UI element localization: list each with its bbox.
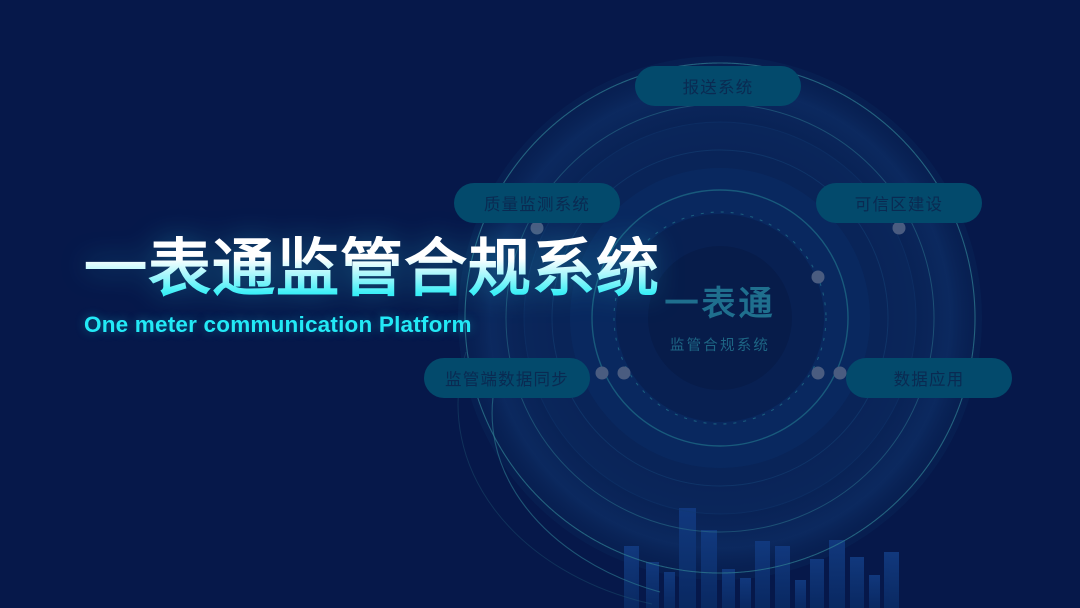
decorative-bar-chart	[624, 508, 899, 608]
title-block: 一表通监管合规系统 One meter communication Platfo…	[84, 236, 684, 338]
node-shuju[interactable]: 数据应用	[846, 358, 1012, 398]
node-kexinqu[interactable]: 可信区建设	[816, 183, 982, 223]
slide-canvas: 一表通监管合规系统 One meter communication Platfo…	[0, 0, 1080, 608]
node-zhiliang[interactable]: 质量监测系统	[454, 183, 620, 223]
page-title: 一表通监管合规系统	[84, 236, 684, 302]
node-tongbu[interactable]: 监管端数据同步	[424, 358, 590, 398]
page-subtitle: One meter communication Platform	[84, 312, 684, 338]
node-baosong[interactable]: 报送系统	[635, 66, 801, 106]
